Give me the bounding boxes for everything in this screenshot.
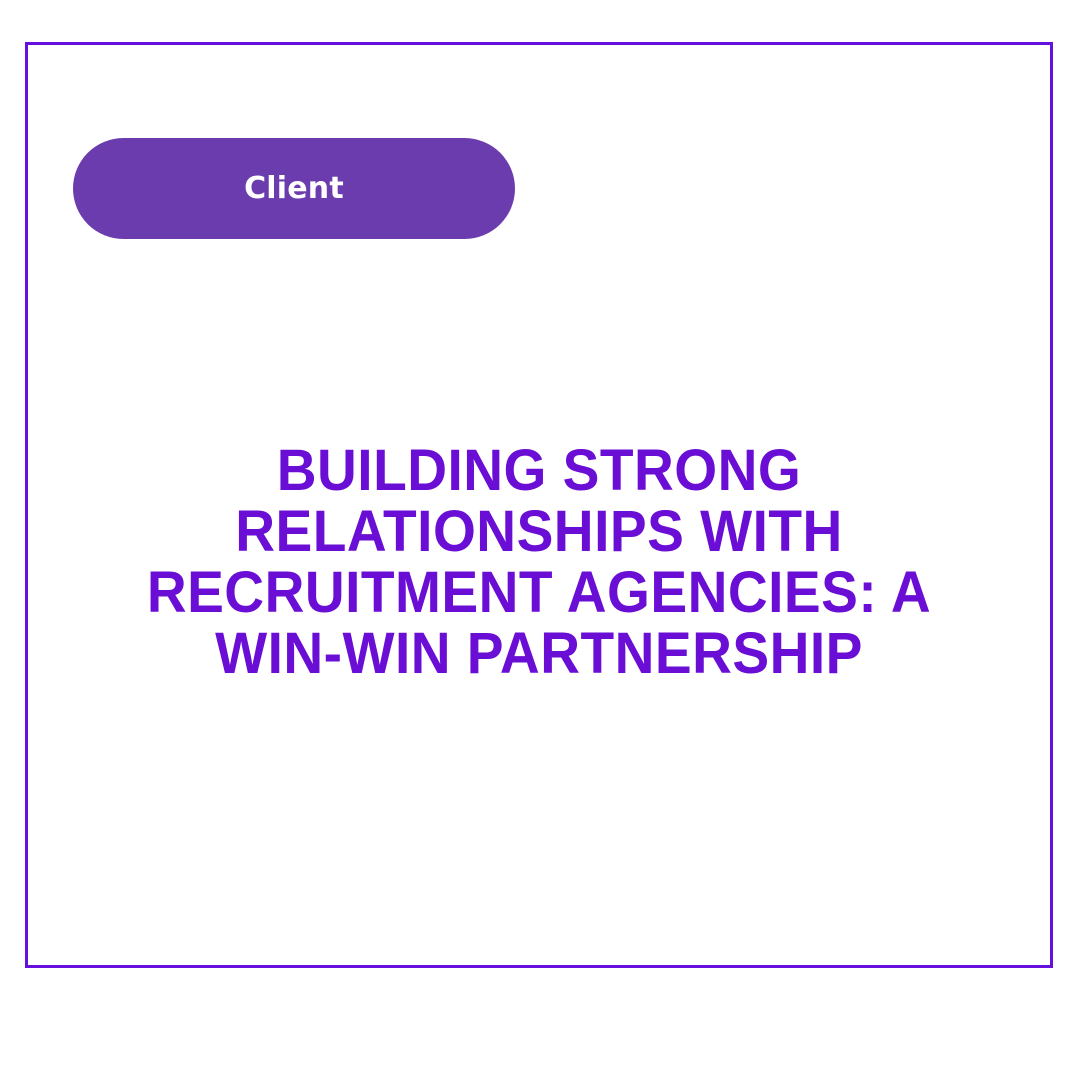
page-title: BUILDING STRONG RELATIONSHIPS WITH RECRU… [28, 440, 1050, 684]
page-title-line-1: BUILDING STRONG [54, 440, 1025, 501]
page-title-line-4: WIN-WIN PARTNERSHIP [54, 623, 1025, 684]
category-badge[interactable]: Client [73, 138, 515, 239]
content-frame: Client BUILDING STRONG RELATIONSHIPS WIT… [25, 42, 1053, 968]
poster-canvas: Client BUILDING STRONG RELATIONSHIPS WIT… [0, 0, 1080, 1080]
page-title-line-2: RELATIONSHIPS WITH [54, 501, 1025, 562]
category-badge-label: Client [244, 174, 344, 204]
page-title-line-3: RECRUITMENT AGENCIES: A [54, 562, 1025, 623]
